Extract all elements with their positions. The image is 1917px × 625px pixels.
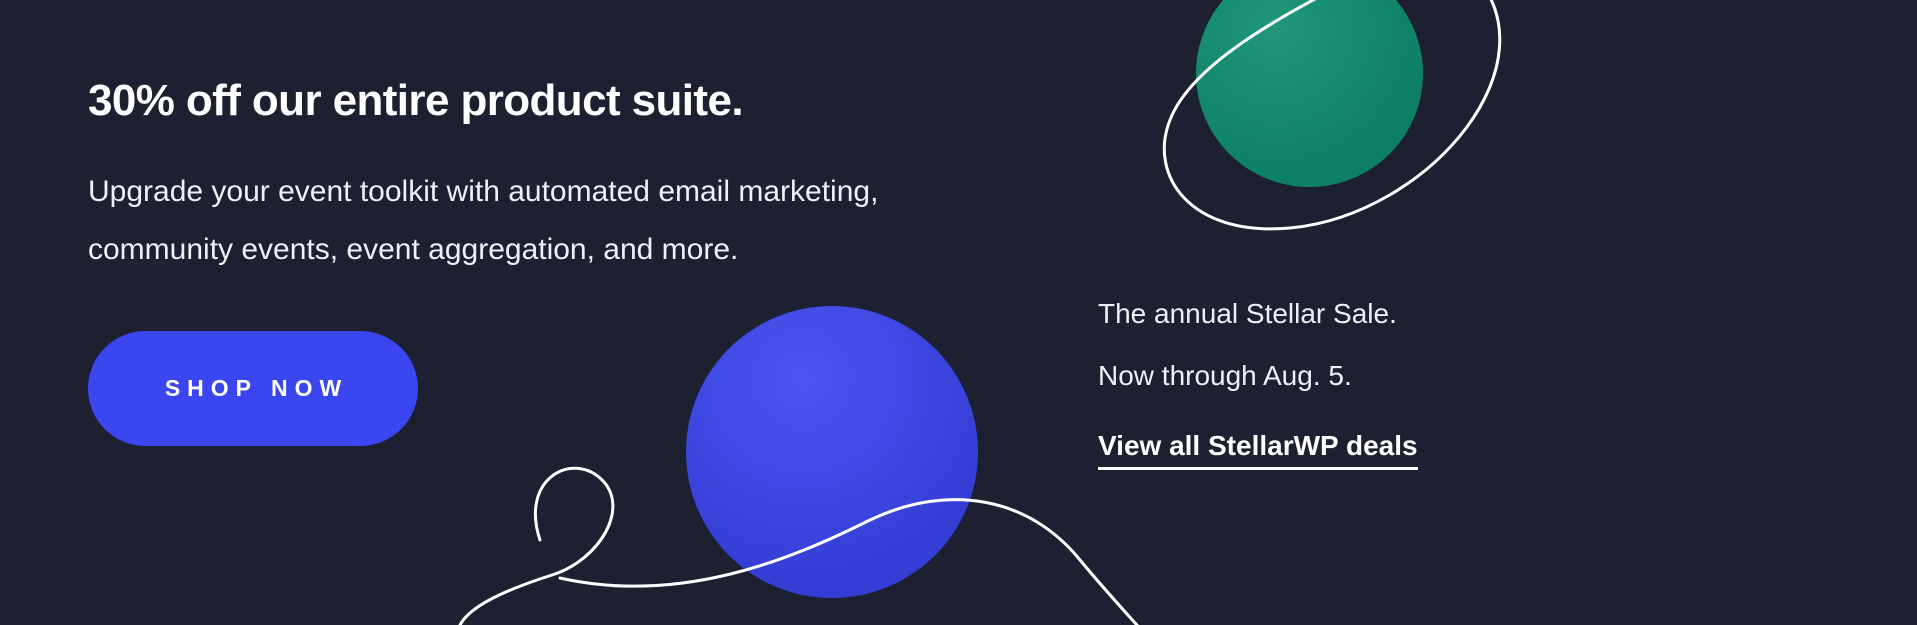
subheading: Upgrade your event toolkit with automate… <box>88 163 878 279</box>
promo-details: The annual Stellar Sale. Now through Aug… <box>1098 283 1568 470</box>
promo-banner: 30% off our entire product suite. Upgrad… <box>0 0 1917 625</box>
page-title: 30% off our entire product suite. <box>88 76 743 126</box>
subheading-line-2: community events, event aggregation, and… <box>88 221 878 279</box>
promo-line-2: Now through Aug. 5. <box>1098 345 1568 407</box>
view-all-deals-link[interactable]: View all StellarWP deals <box>1098 430 1418 470</box>
subheading-line-1: Upgrade your event toolkit with automate… <box>88 163 878 221</box>
banner-content: 30% off our entire product suite. Upgrad… <box>0 0 1917 625</box>
shop-now-button[interactable]: SHOP NOW <box>88 331 418 446</box>
promo-line-1: The annual Stellar Sale. <box>1098 283 1568 345</box>
